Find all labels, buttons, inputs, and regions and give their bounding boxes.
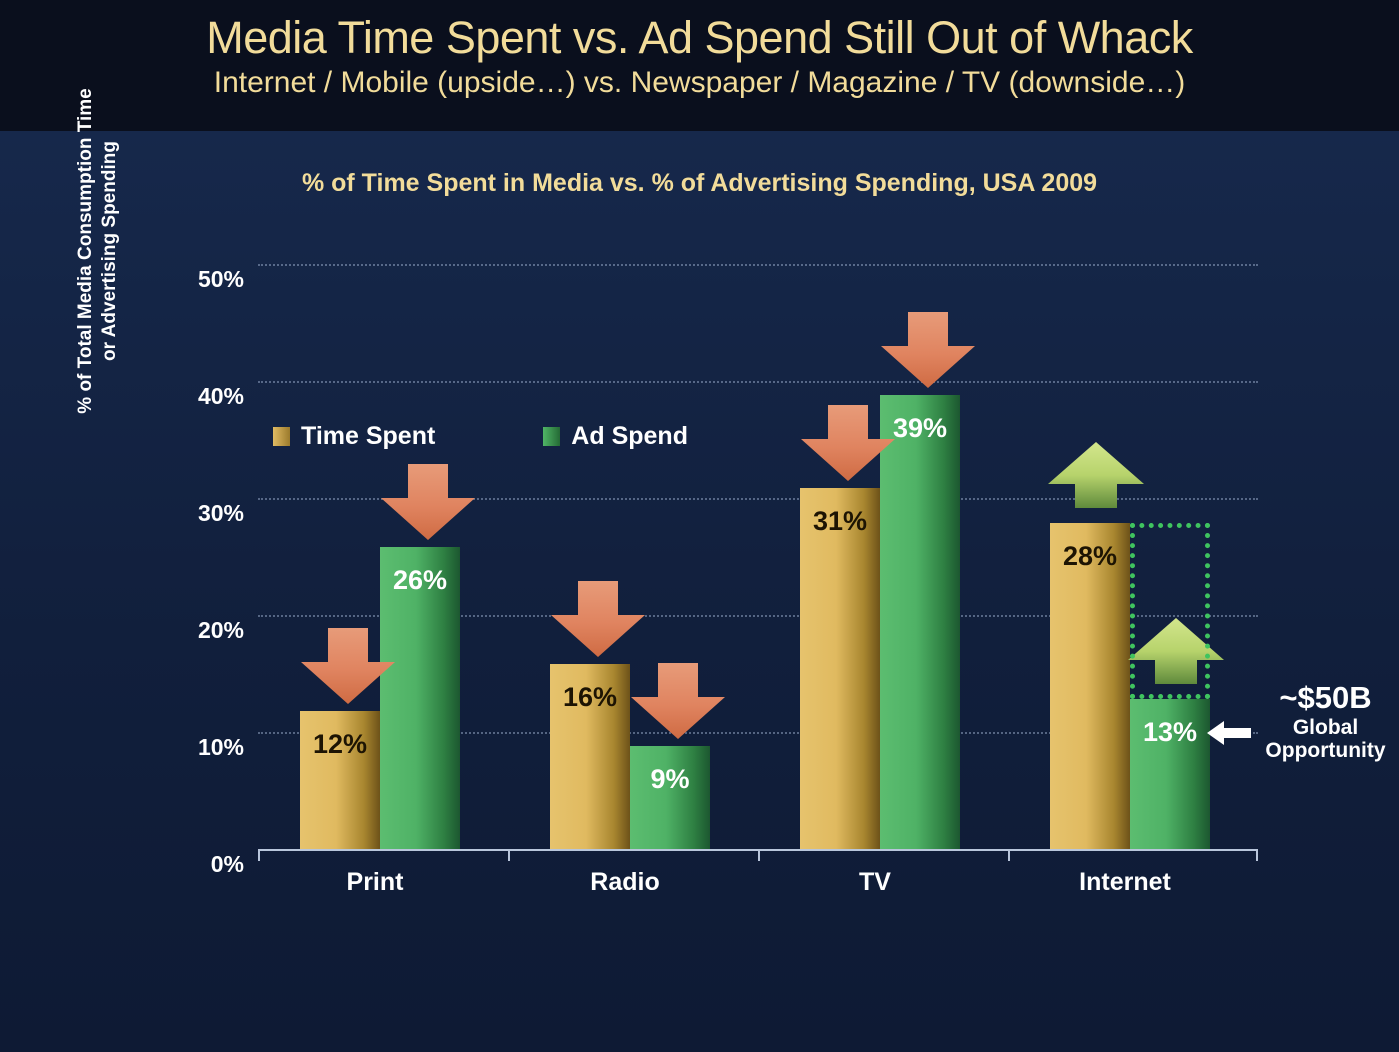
slide-title: Media Time Spent vs. Ad Spend Still Out … (0, 12, 1399, 64)
bar-tv-time-spent[interactable]: 31% (800, 488, 880, 851)
annotation-line2: Global (1252, 716, 1399, 740)
x-axis-label-print: Print (347, 868, 404, 897)
bar-value-label: 12% (300, 729, 380, 760)
bar-radio-ad-spend[interactable]: 9% (630, 746, 710, 851)
x-axis-tick (1256, 850, 1258, 861)
arrow-marker-down-radio-ad-spend (631, 663, 725, 744)
plot-area: 12%26%16%9%31%39%28%13% PrintRadioTVInte… (258, 266, 1258, 851)
global-opportunity-annotation: ~$50B Global Opportunity (1252, 681, 1399, 763)
opportunity-highlight-box (1130, 523, 1210, 699)
slide: Media Time Spent vs. Ad Spend Still Out … (0, 0, 1399, 1052)
bar-value-label: 9% (630, 764, 710, 795)
annotation-pointer-arrow (1207, 718, 1251, 753)
slide-subtitle: Internet / Mobile (upside…) vs. Newspape… (0, 66, 1399, 100)
arrow-marker-down-radio-time-spent (551, 581, 645, 662)
x-axis-tick (1008, 850, 1010, 861)
slide-header: Media Time Spent vs. Ad Spend Still Out … (0, 0, 1399, 131)
x-axis-label-tv: TV (859, 868, 891, 897)
arrow-marker-up-internet-time-spent (1048, 442, 1144, 513)
arrow-marker-down-print-time-spent (301, 628, 395, 709)
bar-internet-ad-spend[interactable]: 13% (1130, 699, 1210, 851)
annotation-line3: Opportunity (1252, 739, 1399, 763)
arrow-marker-down-tv-time-spent (801, 405, 895, 486)
x-axis-tick (758, 850, 760, 861)
gridline (258, 264, 1258, 266)
bar-print-time-spent[interactable]: 12% (300, 711, 380, 851)
bar-value-label: 28% (1050, 541, 1130, 572)
x-axis-tick (258, 850, 260, 861)
arrow-marker-down-print-ad-spend (381, 464, 475, 545)
annotation-amount: ~$50B (1252, 681, 1399, 716)
slide-body: % of Time Spent in Media vs. % of Advert… (0, 131, 1399, 1052)
chart-title: % of Time Spent in Media vs. % of Advert… (0, 169, 1399, 198)
bar-radio-time-spent[interactable]: 16% (550, 664, 630, 851)
x-axis-label-radio: Radio (590, 868, 659, 897)
bar-value-label: 31% (800, 506, 880, 537)
gridline (258, 381, 1258, 383)
bar-value-label: 26% (380, 565, 460, 596)
bar-internet-time-spent[interactable]: 28% (1050, 523, 1130, 851)
x-axis-tick (508, 850, 510, 861)
x-axis-label-internet: Internet (1079, 868, 1171, 897)
bar-value-label: 13% (1130, 717, 1210, 748)
bar-value-label: 16% (550, 682, 630, 713)
arrow-marker-down-tv-ad-spend (881, 312, 975, 393)
